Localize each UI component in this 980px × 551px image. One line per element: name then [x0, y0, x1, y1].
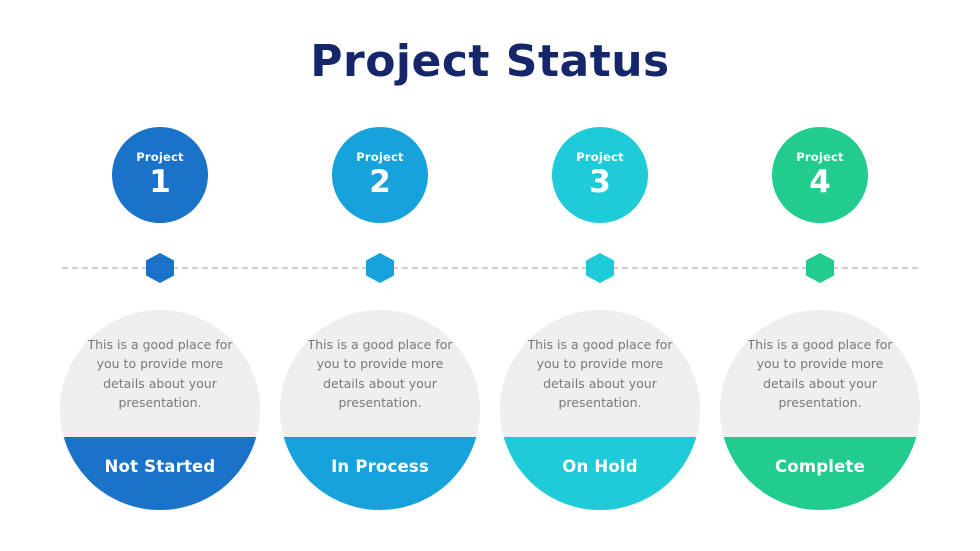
project-badge-number-2: 2	[369, 167, 391, 198]
status-card-footer-1: Not Started	[60, 437, 260, 510]
status-card-text-4: This is a good place for you to provide …	[738, 335, 902, 413]
page-title: Project Status	[0, 40, 980, 84]
project-badge-number-1: 1	[149, 167, 171, 198]
project-badge-number-3: 3	[589, 167, 611, 198]
project-badge-4[interactable]: Project 4	[772, 127, 868, 223]
status-card-4[interactable]: This is a good place for you to provide …	[720, 310, 920, 510]
project-badge-label-3: Project	[576, 152, 623, 164]
hexagon-icon-3	[586, 253, 614, 283]
timeline-connector-line	[62, 267, 918, 269]
hexagon-icon-4	[806, 253, 834, 283]
status-card-text-2: This is a good place for you to provide …	[298, 335, 462, 413]
status-card-2[interactable]: This is a good place for you to provide …	[280, 310, 480, 510]
project-badge-label-2: Project	[356, 152, 403, 164]
status-card-text-3: This is a good place for you to provide …	[518, 335, 682, 413]
project-badge-number-4: 4	[809, 167, 831, 198]
status-card-body-4: This is a good place for you to provide …	[720, 310, 920, 437]
project-badge-label-1: Project	[136, 152, 183, 164]
status-card-footer-2: In Process	[280, 437, 480, 510]
status-badge-1: Not Started	[105, 459, 216, 476]
project-badge-3[interactable]: Project 3	[552, 127, 648, 223]
status-card-body-2: This is a good place for you to provide …	[280, 310, 480, 437]
hexagon-icon-1	[146, 253, 174, 283]
project-badge-label-4: Project	[796, 152, 843, 164]
status-card-body-3: This is a good place for you to provide …	[500, 310, 700, 437]
project-badge-1[interactable]: Project 1	[112, 127, 208, 223]
status-card-1[interactable]: This is a good place for you to provide …	[60, 310, 260, 510]
project-badge-2[interactable]: Project 2	[332, 127, 428, 223]
hexagon-icon-2	[366, 253, 394, 283]
status-card-text-1: This is a good place for you to provide …	[78, 335, 242, 413]
status-card-footer-4: Complete	[720, 437, 920, 510]
status-card-3[interactable]: This is a good place for you to provide …	[500, 310, 700, 510]
status-card-body-1: This is a good place for you to provide …	[60, 310, 260, 437]
status-card-footer-3: On Hold	[500, 437, 700, 510]
status-badge-4: Complete	[775, 459, 865, 476]
status-badge-3: On Hold	[562, 459, 638, 476]
status-badge-2: In Process	[331, 459, 429, 476]
slide-canvas: Project Status Project 1 Project 2 Proje…	[0, 0, 980, 551]
